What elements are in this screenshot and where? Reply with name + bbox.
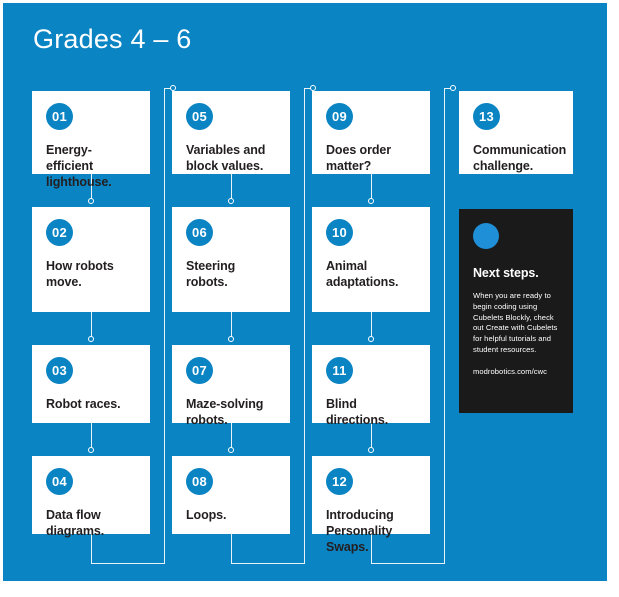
lesson-card[interactable]: 12 Introducing Personality Swaps. [312,456,430,534]
connector-dot-11 [368,336,374,342]
connector-dot-06 [228,198,234,204]
lesson-card[interactable]: 05 Variables and block values. [172,91,290,174]
page-title: Grades 4 – 6 [33,24,192,55]
lesson-title: Maze-solving robots. [186,396,278,428]
lesson-card[interactable]: 08 Loops. [172,456,290,534]
lesson-card[interactable]: 09 Does order matter? [312,91,430,174]
next-steps-title: Next steps. [473,266,559,280]
lesson-number-badge: 05 [186,103,213,130]
next-steps-body: When you are ready to begin coding using… [473,291,559,356]
lesson-card[interactable]: 04 Data flow diagrams. [32,456,150,534]
lesson-number-badge: 02 [46,219,73,246]
lesson-title: Data flow diagrams. [46,507,138,539]
lesson-number-badge: 11 [326,357,353,384]
lesson-card[interactable]: 07 Maze-solving robots. [172,345,290,423]
lesson-number-badge: 03 [46,357,73,384]
lesson-title: Blind directions. [326,396,418,428]
lesson-title: Does order matter? [326,142,418,174]
lesson-title: Energy-efficient lighthouse. [46,142,138,190]
wrap-line-c2-across [231,563,305,564]
lesson-card[interactable]: 02 How robots move. [32,207,150,312]
wrap-line-c4-up [444,88,445,564]
lesson-number-badge: 04 [46,468,73,495]
lesson-number-badge: 10 [326,219,353,246]
connector-dot-10 [368,198,374,204]
wrap-line-c1-across [91,563,165,564]
connector-dot-07 [228,336,234,342]
lesson-number-badge: 13 [473,103,500,130]
lesson-card[interactable]: 06 Steering robots. [172,207,290,312]
lesson-title: Animal adaptations. [326,258,418,290]
lesson-title: Variables and block values. [186,142,278,174]
next-steps-link[interactable]: modrobotics.com/cwc [473,367,559,376]
next-steps-panel: Next steps. When you are ready to begin … [459,209,573,413]
panel-dot-icon [473,223,499,249]
wrap-line-c2-down [231,534,232,564]
lesson-title: Introducing Personality Swaps. [326,507,418,555]
lesson-number-badge: 06 [186,219,213,246]
infographic-root: Grades 4 – 6 01 Energy-efficient lightho… [0,0,619,597]
lesson-card[interactable]: 10 Animal adaptations. [312,207,430,312]
wrap-line-c2-up [164,88,165,564]
connector-dot-08 [228,447,234,453]
lesson-title: How robots move. [46,258,138,290]
lesson-card[interactable]: 11 Blind directions. [312,345,430,423]
lesson-title: Communication challenge. [473,142,561,174]
connector-dot-13 [450,85,456,91]
connector-dot-03 [88,336,94,342]
wrap-line-c3-up [304,88,305,564]
lesson-card[interactable]: 13 Communication challenge. [459,91,573,174]
connector-dot-12 [368,447,374,453]
lesson-number-badge: 08 [186,468,213,495]
connector-dot-02 [88,198,94,204]
lesson-number-badge: 09 [326,103,353,130]
lesson-title: Steering robots. [186,258,278,290]
lesson-number-badge: 12 [326,468,353,495]
lesson-card[interactable]: 03 Robot races. [32,345,150,423]
lesson-title: Loops. [186,507,278,523]
lesson-number-badge: 07 [186,357,213,384]
lesson-number-badge: 01 [46,103,73,130]
lesson-card[interactable]: 01 Energy-efficient lighthouse. [32,91,150,174]
connector-dot-04 [88,447,94,453]
lesson-title: Robot races. [46,396,138,412]
wrap-line-c3-across [371,563,445,564]
